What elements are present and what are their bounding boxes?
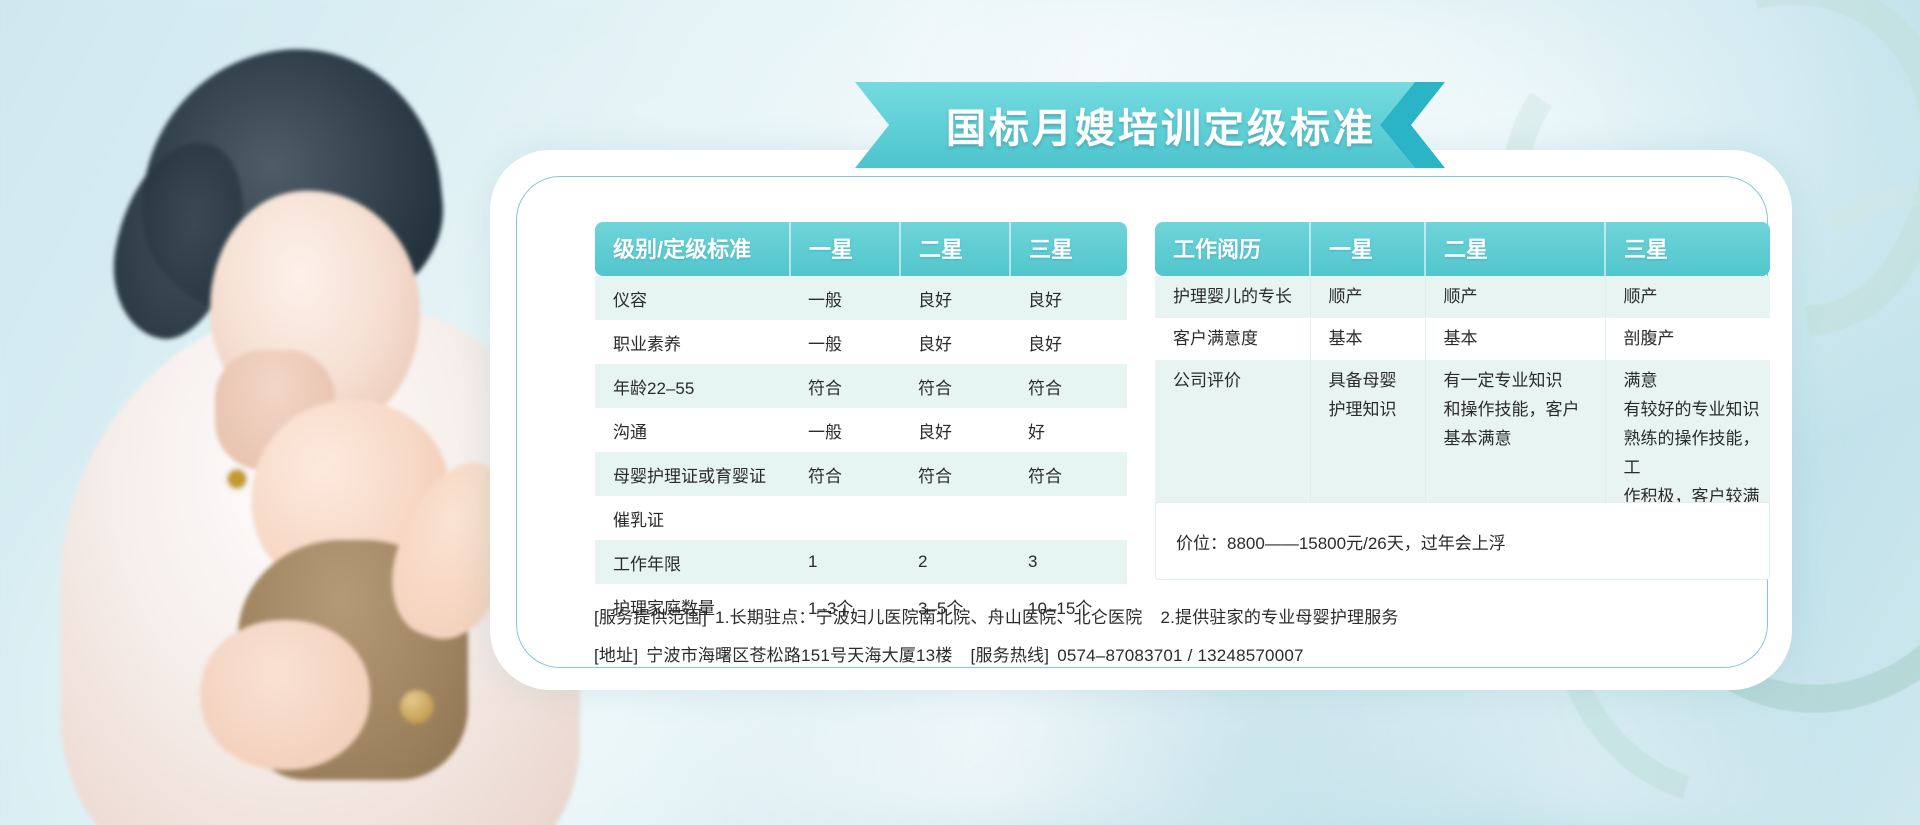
banner-title: 国标月嫂培训定级标准 bbox=[855, 82, 1445, 168]
cell-one-star: 一般 bbox=[790, 320, 900, 364]
cell-three-star: 好 bbox=[1010, 408, 1127, 452]
cell-one-star: 一般 bbox=[790, 276, 900, 320]
cell-two-star: 符合 bbox=[900, 364, 1010, 408]
cell-criteria: 催乳证 bbox=[595, 496, 790, 540]
cell-experience-label: 护理婴儿的专长 bbox=[1155, 276, 1310, 318]
service-scope-label: [服务提供范围] bbox=[594, 608, 707, 627]
table-header-row: 工作阅历 一星 二星 三星 bbox=[1155, 222, 1770, 276]
hotline-label: [服务热线] bbox=[971, 646, 1050, 665]
cell-criteria: 工作年限 bbox=[595, 540, 790, 584]
column-header-one-star: 一星 bbox=[790, 222, 900, 276]
cell-three-star: 良好 bbox=[1010, 320, 1127, 364]
cell-one-star: 一般 bbox=[790, 408, 900, 452]
table-row: 护理婴儿的专长 顺产 顺产 顺产 bbox=[1155, 276, 1770, 318]
cell-criteria: 年龄22–55 bbox=[595, 364, 790, 408]
table-row: 工作年限 1 2 3 bbox=[595, 540, 1127, 584]
cell-two-star: 良好 bbox=[900, 276, 1010, 320]
cell-three-star: 符合 bbox=[1010, 364, 1127, 408]
cell-one-star: 1 bbox=[790, 540, 900, 584]
cell-three-star: 顺产 bbox=[1605, 276, 1770, 318]
column-header-experience: 工作阅历 bbox=[1155, 222, 1310, 276]
cell-three-star: 良好 bbox=[1010, 276, 1127, 320]
cell-two-star: 良好 bbox=[900, 320, 1010, 364]
table-row: 沟通 一般 良好 好 bbox=[595, 408, 1127, 452]
table-row: 催乳证 bbox=[595, 496, 1127, 540]
service-scope-item1: 1.长期驻点：宁波妇儿医院南北院、舟山医院、北仑医院 bbox=[715, 608, 1142, 627]
cell-one-star: 符合 bbox=[790, 452, 900, 496]
column-header-two-star: 二星 bbox=[900, 222, 1010, 276]
service-scope-item2: 2.提供驻家的专业母婴护理服务 bbox=[1160, 608, 1398, 627]
cell-experience-label: 客户满意度 bbox=[1155, 318, 1310, 360]
cell-one-star: 顺产 bbox=[1310, 276, 1425, 318]
cell-criteria: 仪容 bbox=[595, 276, 790, 320]
cell-criteria: 母婴护理证或育婴证 bbox=[595, 452, 790, 496]
table-row: 客户满意度 基本 基本 剖腹产 bbox=[1155, 318, 1770, 360]
address-text: 宁波市海曙区苍松路151号天海大厦13楼 bbox=[646, 646, 952, 665]
address-label: [地址] bbox=[594, 646, 638, 665]
cell-three-star: 符合 bbox=[1010, 452, 1127, 496]
cell-three-star bbox=[1010, 496, 1127, 540]
price-box: 价位：8800——15800元/26天，过年会上浮 bbox=[1155, 502, 1770, 580]
column-header-three-star: 三星 bbox=[1010, 222, 1127, 276]
cell-three-star: 剖腹产 bbox=[1605, 318, 1770, 360]
cell-two-star: 基本 bbox=[1425, 318, 1605, 360]
cell-one-star: 基本 bbox=[1310, 318, 1425, 360]
table-row: 仪容 一般 良好 良好 bbox=[595, 276, 1127, 320]
table-row: 年龄22–55 符合 符合 符合 bbox=[595, 364, 1127, 408]
cell-criteria: 沟通 bbox=[595, 408, 790, 452]
grading-standard-table: 级别/定级标准 一星 二星 三星 仪容 一般 良好 良好 职业素养 一般 良好 … bbox=[595, 222, 1127, 628]
banner: 国标月嫂培训定级标准 bbox=[855, 82, 1445, 168]
service-scope-line: [服务提供范围]1.长期驻点：宁波妇儿医院南北院、舟山医院、北仑医院2.提供驻家… bbox=[594, 603, 1399, 628]
hotline-number: 0574–87083701 / 13248570007 bbox=[1057, 646, 1303, 665]
price-text: 价位：8800——15800元/26天，过年会上浮 bbox=[1156, 529, 1506, 554]
cell-two-star: 顺产 bbox=[1425, 276, 1605, 318]
cell-three-star: 3 bbox=[1010, 540, 1127, 584]
cell-criteria: 职业素养 bbox=[595, 320, 790, 364]
column-header-one-star: 一星 bbox=[1310, 222, 1425, 276]
cell-two-star bbox=[900, 496, 1010, 540]
cell-one-star bbox=[790, 496, 900, 540]
cell-one-star: 符合 bbox=[790, 364, 900, 408]
table-header-row: 级别/定级标准 一星 二星 三星 bbox=[595, 222, 1127, 276]
cell-two-star: 2 bbox=[900, 540, 1010, 584]
cell-two-star: 良好 bbox=[900, 408, 1010, 452]
table-row: 母婴护理证或育婴证 符合 符合 符合 bbox=[595, 452, 1127, 496]
table-row: 职业素养 一般 良好 良好 bbox=[595, 320, 1127, 364]
column-header-criteria: 级别/定级标准 bbox=[595, 222, 790, 276]
cell-two-star: 符合 bbox=[900, 452, 1010, 496]
column-header-three-star: 三星 bbox=[1605, 222, 1770, 276]
address-and-hotline-line: [地址]宁波市海曙区苍松路151号天海大厦13楼[服务热线]0574–87083… bbox=[594, 641, 1304, 666]
column-header-two-star: 二星 bbox=[1425, 222, 1605, 276]
